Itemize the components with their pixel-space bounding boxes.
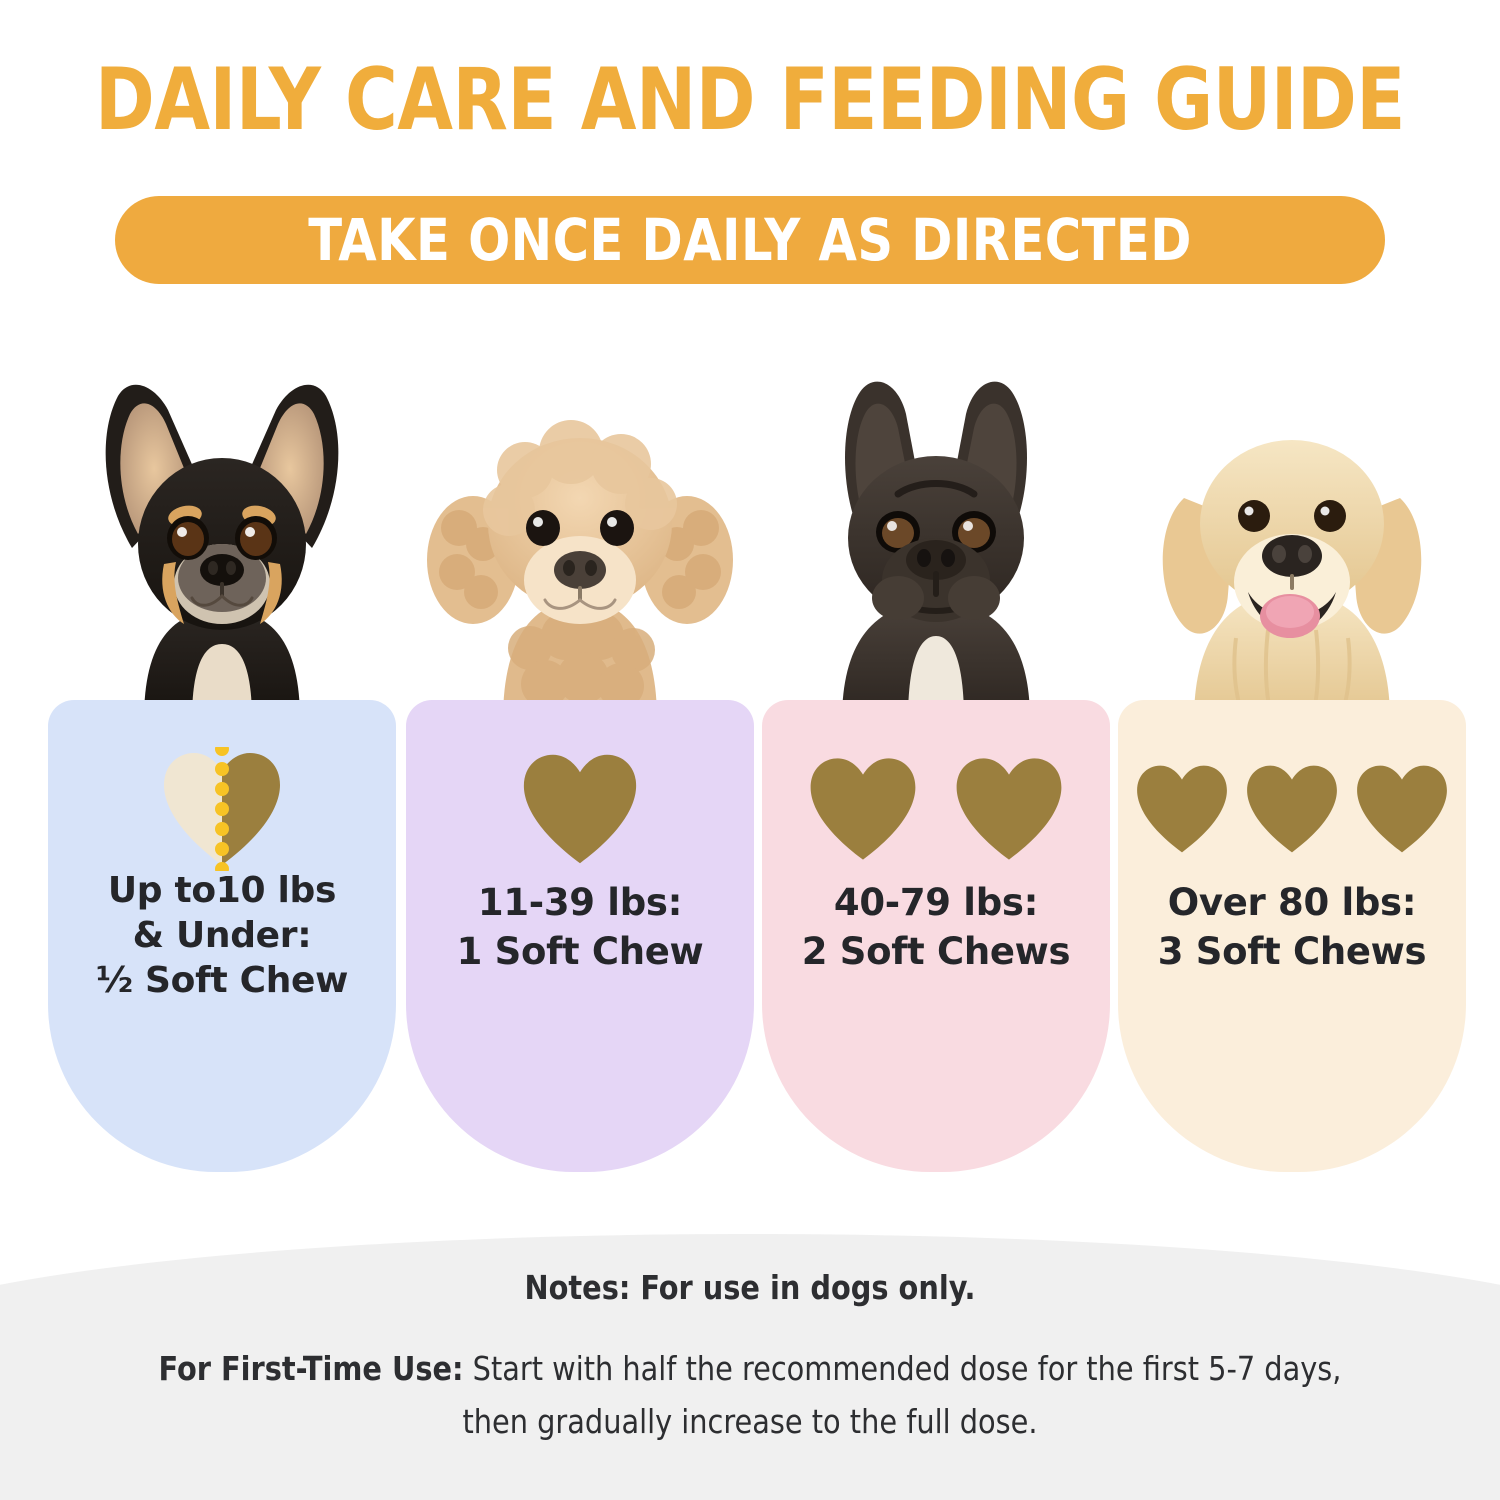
header: DAILY CARE AND FEEDING GUIDE TAKE ONCE D… [0,0,1500,148]
heart-chew-icon [1242,761,1342,857]
dose-line: 11-39 lbs: [416,878,744,927]
heart-chew-icon [950,753,1068,865]
pouch-chihuahua: Up to10 lbs & Under: ½ Soft Chew [48,700,396,1172]
footer-notes-panel: Notes: For use in dogs only. For First-T… [0,1196,1500,1500]
heart-chew-icon [1132,761,1232,857]
heart-chew-icon [804,753,922,865]
dosage-card-french-bulldog[interactable]: 40-79 lbs: 2 Soft Chews [762,348,1110,1184]
dose-label-golden-retriever: Over 80 lbs: 3 Soft Chews [1128,878,1456,976]
dosage-card-poodle[interactable]: 11-39 lbs: 1 Soft Chew [406,348,754,1184]
first-time-use-label: For First-Time Use: [159,1349,464,1388]
heart-chew-icon [1352,761,1452,857]
dosage-card-row: Up to10 lbs & Under: ½ Soft Chew [0,348,1500,1184]
dosage-card-golden-retriever[interactable]: Over 80 lbs: 3 Soft Chews [1118,348,1466,1184]
dog-photo-french-bulldog [762,348,1110,720]
dose-label-chihuahua: Up to10 lbs & Under: ½ Soft Chew [58,868,386,1003]
dose-line: 40-79 lbs: [772,878,1100,927]
dose-line: 1 Soft Chew [416,927,744,976]
first-time-use-body: Start with half the recommended dose for… [462,1349,1341,1441]
dose-line: 3 Soft Chews [1128,927,1456,976]
chew-illustration-half [48,744,396,874]
chew-illustration-1 [406,744,754,874]
dose-line: Up to10 lbs [58,868,386,913]
dose-line: Over 80 lbs: [1128,878,1456,927]
chew-illustration-3 [1118,744,1466,874]
dose-line: 2 Soft Chews [772,927,1100,976]
dosage-card-chihuahua[interactable]: Up to10 lbs & Under: ½ Soft Chew [48,348,396,1184]
chew-illustration-2 [762,744,1110,874]
pouch-poodle: 11-39 lbs: 1 Soft Chew [406,700,754,1172]
dog-photo-poodle [406,348,754,720]
half-heart-icon [158,747,286,871]
dose-label-french-bulldog: 40-79 lbs: 2 Soft Chews [772,878,1100,976]
dog-photo-chihuahua [48,348,396,720]
pouch-golden-retriever: Over 80 lbs: 3 Soft Chews [1118,700,1466,1172]
dog-photo-golden-retriever [1118,348,1466,720]
dose-label-poodle: 11-39 lbs: 1 Soft Chew [416,878,744,976]
dose-line: ½ Soft Chew [58,958,386,1003]
note-dogs-only: Notes: For use in dogs only. [23,1268,1478,1308]
directions-pill: TAKE ONCE DAILY AS DIRECTED [115,196,1385,284]
dose-line: & Under: [58,913,386,958]
pouch-french-bulldog: 40-79 lbs: 2 Soft Chews [762,700,1110,1172]
note-first-time-use: For First-Time Use: Start with half the … [129,1342,1371,1448]
directions-text: TAKE ONCE DAILY AS DIRECTED [308,210,1192,270]
heart-chew-icon [517,749,643,869]
page-title: DAILY CARE AND FEEDING GUIDE [53,52,1448,148]
